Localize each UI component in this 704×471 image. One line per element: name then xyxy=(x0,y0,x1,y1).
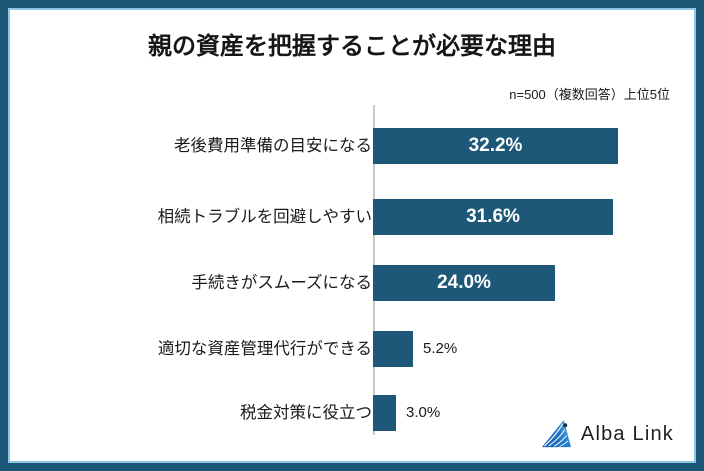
bar-category-label: 相続トラブルを回避しやすい xyxy=(158,197,372,237)
bar-value-label: 32.2% xyxy=(373,128,618,164)
bar-row: 相続トラブルを回避しやすい 31.6% xyxy=(8,197,696,237)
bar-category-label: 手続きがスムーズになる xyxy=(191,263,372,303)
chart-title: 親の資産を把握することが必要な理由 xyxy=(8,26,696,61)
bar-category-label: 適切な資産管理代行ができる xyxy=(158,329,372,369)
chart-plot-area: 老後費用準備の目安になる 32.2% 相続トラブルを回避しやすい 31.6% 手… xyxy=(8,105,696,435)
bar-row: 適切な資産管理代行ができる 5.2% xyxy=(8,329,696,369)
chart-card: 親の資産を把握することが必要な理由 n=500（複数回答）上位5位 老後費用準備… xyxy=(0,0,704,471)
bar-segment xyxy=(373,395,396,431)
bar-value-label: 5.2% xyxy=(423,331,457,367)
brand-logo-text: Alba Link xyxy=(581,423,674,446)
bar-segment xyxy=(373,331,413,367)
chart-inner-area: 親の資産を把握することが必要な理由 n=500（複数回答）上位5位 老後費用準備… xyxy=(8,8,696,463)
bar-category-label: 税金対策に役立つ xyxy=(240,393,372,433)
bar-row: 手続きがスムーズになる 24.0% xyxy=(8,263,696,303)
triangle-sail-icon xyxy=(541,419,572,449)
bar-value-label: 24.0% xyxy=(373,265,555,301)
bar-value-label: 3.0% xyxy=(406,395,440,431)
brand-logo: Alba Link xyxy=(541,417,674,451)
bar-category-label: 老後費用準備の目安になる xyxy=(174,126,372,166)
bar-value-label: 31.6% xyxy=(373,199,613,235)
chart-subtitle-sample-size: n=500（複数回答）上位5位 xyxy=(509,84,670,103)
bar-row: 老後費用準備の目安になる 32.2% xyxy=(8,126,696,166)
